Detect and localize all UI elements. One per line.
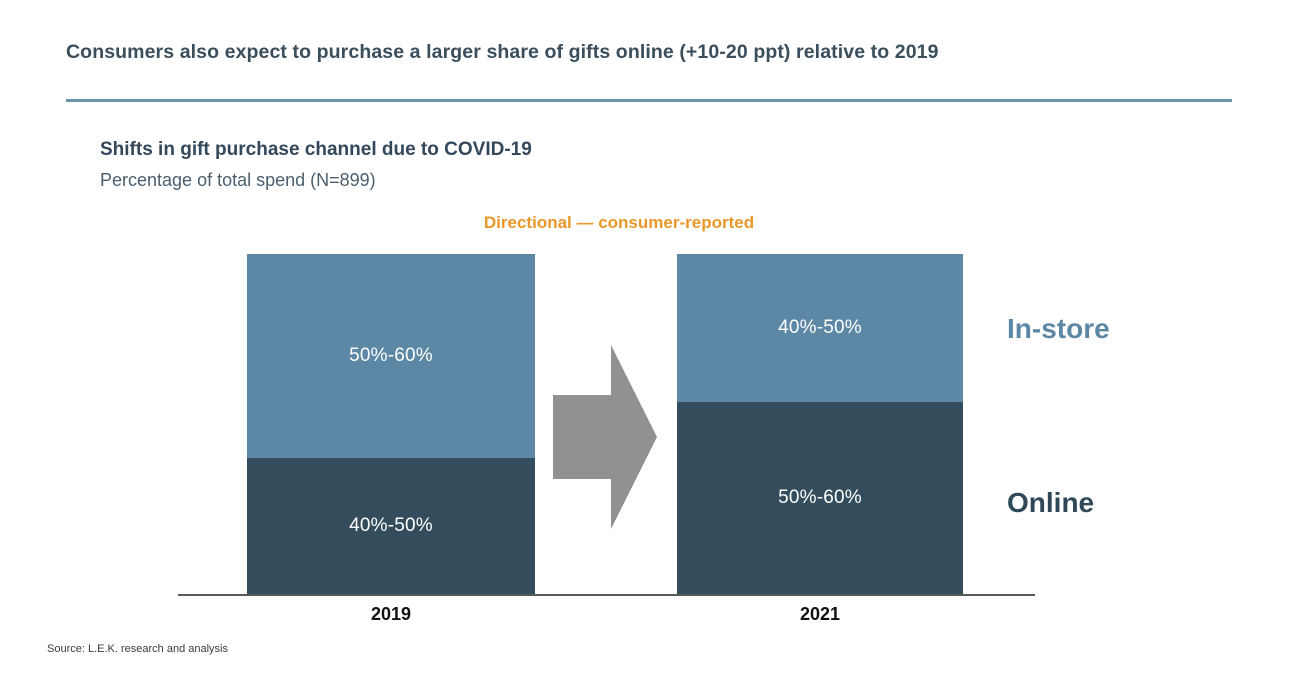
legend-label-online: Online	[1007, 487, 1094, 519]
bar-segment-label: 50%-60%	[349, 345, 433, 367]
bar-segment-label: 40%-50%	[349, 515, 433, 537]
bar-segment-2021-instore[interactable]: 40%-50%	[677, 254, 963, 402]
x-axis-tick-2019: 2019	[247, 604, 535, 625]
bar-segment-2021-online[interactable]: 50%-60%	[677, 402, 963, 594]
bar-column-2019[interactable]: 50%-60% 40%-50%	[247, 254, 535, 594]
chart-plot-area: 50%-60% 40%-50% 40%-50% 50%-60% 2019 202…	[0, 0, 1300, 692]
x-axis-line	[178, 594, 1035, 596]
bar-segment-2019-instore[interactable]: 50%-60%	[247, 254, 535, 458]
source-note: Source: L.E.K. research and analysis	[47, 643, 228, 655]
bar-segment-label: 50%-60%	[778, 487, 862, 509]
legend-label-instore: In-store	[1007, 313, 1110, 345]
x-axis-tick-2021: 2021	[677, 604, 963, 625]
bar-segment-2019-online[interactable]: 40%-50%	[247, 458, 535, 594]
bar-segment-label: 40%-50%	[778, 317, 862, 339]
bar-column-2021[interactable]: 40%-50% 50%-60%	[677, 254, 963, 594]
right-arrow-icon	[553, 345, 657, 529]
